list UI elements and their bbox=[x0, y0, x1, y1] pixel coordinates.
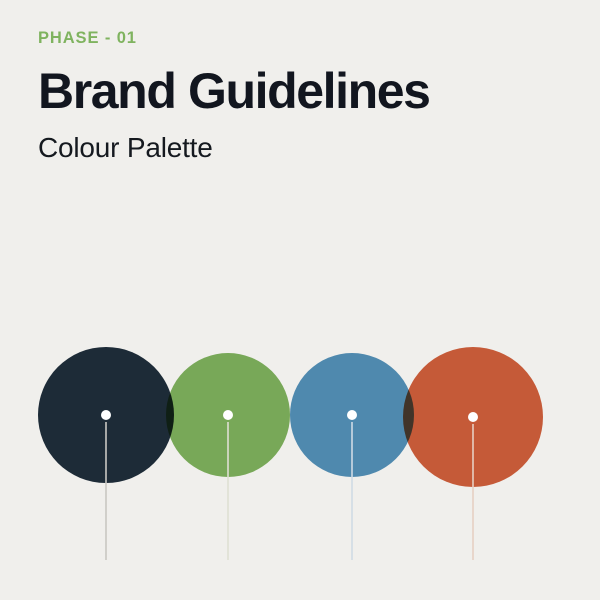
swatch-centre-dot-green bbox=[223, 410, 233, 420]
page-subtitle: Colour Palette bbox=[38, 133, 558, 162]
swatch-circle-navy[interactable] bbox=[38, 347, 174, 483]
colour-swatch-navy[interactable] bbox=[38, 347, 174, 483]
slide-header: PHASE - 01 Brand Guidelines Colour Palet… bbox=[38, 30, 558, 162]
swatch-centre-dot-blue bbox=[347, 410, 357, 420]
swatch-centre-dot-navy bbox=[101, 410, 111, 420]
slide-canvas: PHASE - 01 Brand Guidelines Colour Palet… bbox=[0, 0, 600, 600]
swatch-circle-blue[interactable] bbox=[290, 353, 414, 477]
swatch-circle-green[interactable] bbox=[166, 353, 290, 477]
swatch-centre-dot-orange bbox=[468, 412, 478, 422]
swatch-circle-orange[interactable] bbox=[403, 347, 543, 487]
phase-eyebrow: PHASE - 01 bbox=[38, 30, 558, 47]
colour-swatch-blue[interactable] bbox=[290, 353, 414, 477]
colour-swatch-green[interactable] bbox=[166, 353, 290, 477]
colour-swatch-orange[interactable] bbox=[403, 347, 543, 487]
page-title: Brand Guidelines bbox=[38, 65, 558, 117]
